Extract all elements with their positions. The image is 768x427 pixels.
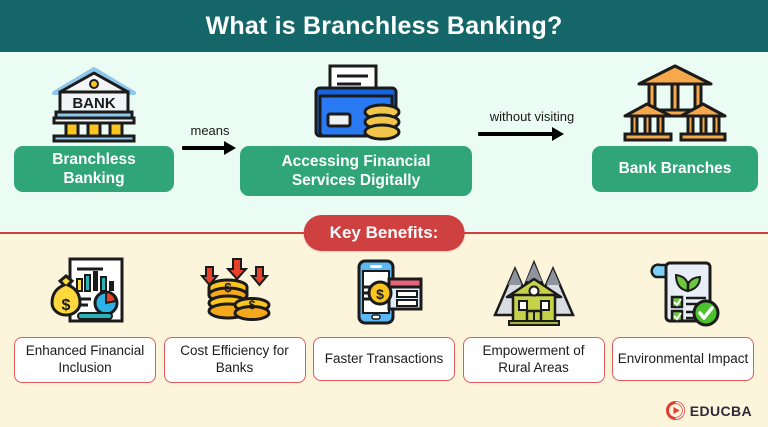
svg-text:$: $ <box>248 298 255 312</box>
wallet-documents-coins-icon <box>240 60 472 146</box>
bank-branches-icon <box>592 60 758 146</box>
bank-building-icon: BANK <box>14 60 174 146</box>
financial-report-moneybag-icon: $ <box>46 255 124 327</box>
eco-checklist-icon <box>644 255 722 327</box>
coins-down-arrows-icon: $ $ <box>196 255 274 327</box>
flow-node-label: Bank Branches <box>592 146 758 192</box>
connector-means: means <box>182 124 238 153</box>
svg-text:$: $ <box>62 297 71 314</box>
educba-logo-icon <box>666 401 685 420</box>
benefit-item: $ Enhanced Financial Inclusion <box>14 255 156 415</box>
arrow-right-icon <box>478 129 586 139</box>
benefit-item: Empowerment of Rural Areas <box>463 255 605 415</box>
benefit-label: Enhanced Financial Inclusion <box>14 337 156 383</box>
benefit-label: Faster Transactions <box>313 337 455 381</box>
flow-node-branchless-banking: BANK Branchless Banking <box>14 60 174 192</box>
svg-text:$: $ <box>376 286 384 302</box>
header-banner: What is Branchless Banking? <box>0 0 768 52</box>
flow-node-label: Branchless Banking <box>14 146 174 192</box>
connector-without-visiting: without visiting <box>478 110 586 139</box>
key-benefits-badge: Key Benefits: <box>304 215 465 251</box>
flow-diagram: BANK Branchless Banking means <box>0 52 768 232</box>
arrow-right-icon <box>182 143 238 153</box>
connector-label: without visiting <box>478 110 586 125</box>
flow-node-digital-services: Accessing Financial Services Digitally <box>240 60 472 196</box>
benefit-item: Environmental Impact <box>612 255 754 415</box>
benefit-item: $ Faster Transactions <box>313 255 455 415</box>
benefits-row: $ Enhanced Financial Inclusion <box>0 255 768 415</box>
connector-label: means <box>182 124 238 139</box>
flow-node-label: Accessing Financial Services Digitally <box>240 146 472 196</box>
mobile-payment-icon: $ <box>345 255 423 327</box>
benefit-label: Cost Efficiency for Banks <box>164 337 306 383</box>
educba-logo-text: EDUCBA <box>690 403 752 419</box>
infographic-page: What is Branchless Banking? BANK <box>0 0 768 427</box>
page-title: What is Branchless Banking? <box>206 12 563 41</box>
rural-house-mountains-icon <box>493 255 575 327</box>
benefit-item: $ $ Cost Efficiency for Banks <box>164 255 306 415</box>
benefit-label: Environmental Impact <box>612 337 754 381</box>
svg-text:BANK: BANK <box>72 95 115 112</box>
educba-logo: EDUCBA <box>666 401 752 420</box>
benefit-label: Empowerment of Rural Areas <box>463 337 605 383</box>
svg-text:$: $ <box>224 280 232 295</box>
flow-node-bank-branches: Bank Branches <box>592 60 758 192</box>
